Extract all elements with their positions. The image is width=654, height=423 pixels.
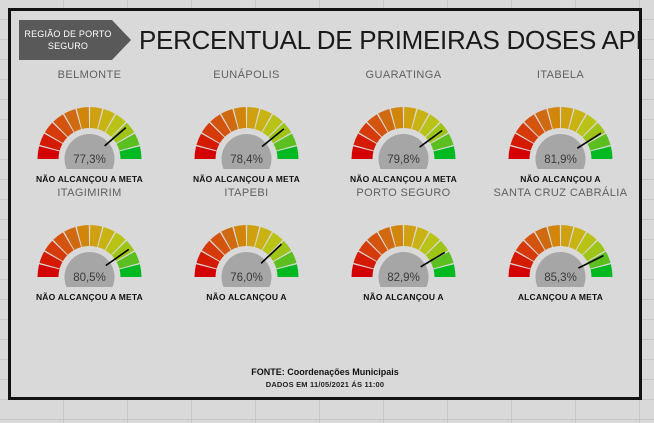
gauge-value: 79,8% [387, 154, 420, 166]
gauge-card: GUARATINGA79,8%NÃO ALCANÇOU A META [325, 67, 482, 185]
gauge-title: ITAGIMIRIM [11, 185, 168, 201]
gauge-chart: 76,0% [168, 207, 325, 287]
region-banner-line2: SEGURO [24, 40, 111, 52]
gauge-chart: 79,8% [325, 89, 482, 169]
gauge-title: ITAPEBI [168, 185, 325, 201]
gauge-value: 77,3% [73, 154, 106, 166]
gauge-title: GUARATINGA [325, 67, 482, 83]
region-banner-line1: REGIÃO DE PORTO [24, 28, 111, 40]
gauge-status-label: NÃO ALCANÇOU A [482, 174, 639, 185]
gauge-card: EUNÁPOLIS78,4%NÃO ALCANÇOU A META [168, 67, 325, 185]
gauge-card: SANTA CRUZ CABRÁLIA85,3%ALCANÇOU A META [482, 185, 639, 303]
gauge-title: ITABELA [482, 67, 639, 83]
gauge-title: EUNÁPOLIS [168, 67, 325, 83]
gauge-card: ITAGIMIRIM80,5%NÃO ALCANÇOU A META [11, 185, 168, 303]
page-title: PERCENTUAL DE PRIMEIRAS DOSES APLICADAS [139, 21, 637, 59]
gauge-card: PORTO SEGURO82,9%NÃO ALCANÇOU A [325, 185, 482, 303]
gauge-chart: 85,3% [482, 207, 639, 287]
gauge-value: 80,5% [73, 272, 106, 284]
gauge-chart: 82,9% [325, 207, 482, 287]
gauge-status-label: NÃO ALCANÇOU A META [325, 174, 482, 185]
footer-source: FONTE: Coordenações Municipais [11, 366, 639, 379]
gauge-status-label: NÃO ALCANÇOU A META [11, 292, 168, 303]
gauge-value: 78,4% [230, 154, 263, 166]
gauge-value: 82,9% [387, 272, 420, 284]
gauge-value: 81,9% [544, 154, 577, 166]
gauge-status-label: NÃO ALCANÇOU A [325, 292, 482, 303]
gauge-row-bottom: ITAGIMIRIM80,5%NÃO ALCANÇOU A METAITAPEB… [11, 185, 639, 303]
gauge-card: ITAPEBI76,0%NÃO ALCANÇOU A [168, 185, 325, 303]
gauge-card: ITABELA81,9%NÃO ALCANÇOU A [482, 67, 639, 185]
gauge-chart: 81,9% [482, 89, 639, 169]
gauge-chart: 80,5% [11, 207, 168, 287]
gauge-status-label: ALCANÇOU A META [482, 292, 639, 303]
gauge-chart: 78,4% [168, 89, 325, 169]
footer-updated: DADOS EM 11/05/2021 ÁS 11:00 [11, 379, 639, 390]
gauge-status-label: NÃO ALCANÇOU A [168, 292, 325, 303]
gauge-grid: BELMONTE77,3%NÃO ALCANÇOU A METAEUNÁPOLI… [11, 67, 639, 303]
gauge-card: BELMONTE77,3%NÃO ALCANÇOU A META [11, 67, 168, 185]
gauge-title: SANTA CRUZ CABRÁLIA [482, 185, 639, 201]
gauge-chart: 77,3% [11, 89, 168, 169]
dashboard-panel: REGIÃO DE PORTO SEGURO PERCENTUAL DE PRI… [8, 8, 642, 400]
gauge-row-top: BELMONTE77,3%NÃO ALCANÇOU A METAEUNÁPOLI… [11, 67, 639, 185]
gauge-title: PORTO SEGURO [325, 185, 482, 201]
dashboard-footer: FONTE: Coordenações Municipais DADOS EM … [11, 366, 639, 390]
region-banner: REGIÃO DE PORTO SEGURO [19, 20, 131, 60]
gauge-status-label: NÃO ALCANÇOU A META [11, 174, 168, 185]
gauge-value: 85,3% [544, 272, 577, 284]
dashboard-header: REGIÃO DE PORTO SEGURO PERCENTUAL DE PRI… [11, 11, 639, 67]
gauge-status-label: NÃO ALCANÇOU A META [168, 174, 325, 185]
gauge-title: BELMONTE [11, 67, 168, 83]
gauge-value: 76,0% [230, 272, 263, 284]
